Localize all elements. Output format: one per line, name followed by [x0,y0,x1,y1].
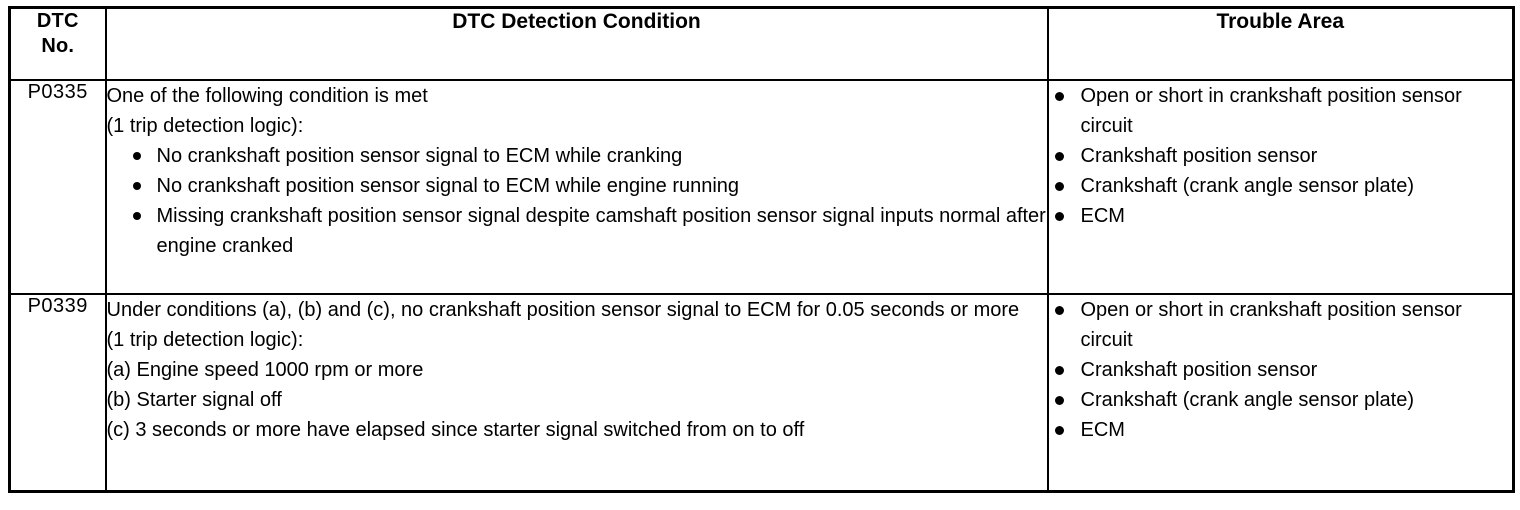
column-header-trouble-area: Trouble Area [1048,8,1514,80]
bullet-dot-icon [1055,366,1064,375]
trouble-area-text: Open or short in crankshaft position sen… [1081,299,1462,351]
bullet-dot-icon [133,152,141,160]
trouble-area-item: ECM [1049,201,1513,231]
cell-trouble-area: Open or short in crankshaft position sen… [1048,80,1514,294]
trouble-area-text: Crankshaft position sensor [1081,359,1318,381]
detection-intro-line: (a) Engine speed 1000 rpm or more [107,355,1047,385]
bullet-dot-icon [1055,426,1064,435]
trouble-area-item: Crankshaft (crank angle sensor plate) [1049,171,1513,201]
cell-dtc-no: P0339 [10,294,106,492]
document-page: DTC No. DTC Detection Condition Trouble … [0,0,1520,510]
detection-bullet-text: No crankshaft position sensor signal to … [157,175,740,197]
detection-intro-line: (1 trip detection logic): [107,325,1047,355]
bullet-dot-icon [1055,152,1064,161]
table-header: DTC No. DTC Detection Condition Trouble … [10,8,1514,80]
detection-bullet-item: Missing crankshaft position sensor signa… [129,201,1047,261]
bullet-dot-icon [1055,306,1064,315]
column-header-dtc-no-line2: No. [11,34,105,59]
trouble-area-list: Open or short in crankshaft position sen… [1049,295,1513,445]
detection-intro-line: (1 trip detection logic): [107,111,1047,141]
cell-trouble-area: Open or short in crankshaft position sen… [1048,294,1514,492]
trouble-area-item: ECM [1049,415,1513,445]
detection-bullet-item: No crankshaft position sensor signal to … [129,171,1047,201]
column-header-detection-condition: DTC Detection Condition [106,8,1048,80]
cell-detection-condition: Under conditions (a), (b) and (c), no cr… [106,294,1048,492]
trouble-area-item: Open or short in crankshaft position sen… [1049,81,1513,141]
detection-intro-line: One of the following condition is met [107,81,1047,111]
table-row: P0335 One of the following condition is … [10,80,1514,294]
bullet-dot-icon [1055,182,1064,191]
trouble-area-text: ECM [1081,419,1125,441]
trouble-area-text: ECM [1081,205,1125,227]
trouble-area-text: Crankshaft position sensor [1081,145,1318,167]
trouble-area-text: Crankshaft (crank angle sensor plate) [1081,389,1415,411]
trouble-area-item: Crankshaft (crank angle sensor plate) [1049,385,1513,415]
trouble-area-item: Crankshaft position sensor [1049,355,1513,385]
detection-bullet-text: No crankshaft position sensor signal to … [157,145,683,167]
dtc-diagnostic-table: DTC No. DTC Detection Condition Trouble … [8,6,1515,493]
detection-intro-line: (c) 3 seconds or more have elapsed since… [107,415,1047,445]
cell-dtc-no: P0335 [10,80,106,294]
bullet-dot-icon [1055,396,1064,405]
bullet-dot-icon [133,212,141,220]
detection-bullet-item: No crankshaft position sensor signal to … [129,141,1047,171]
detection-intro-line: Under conditions (a), (b) and (c), no cr… [107,295,1047,325]
detection-intro-line: (b) Starter signal off [107,385,1047,415]
trouble-area-item: Crankshaft position sensor [1049,141,1513,171]
table-body: P0335 One of the following condition is … [10,80,1514,492]
column-header-dtc-no: DTC No. [10,8,106,80]
trouble-area-text: Open or short in crankshaft position sen… [1081,85,1462,137]
bullet-dot-icon [133,182,141,190]
bullet-dot-icon [1055,212,1064,221]
trouble-area-text: Crankshaft (crank angle sensor plate) [1081,175,1415,197]
table-header-row: DTC No. DTC Detection Condition Trouble … [10,8,1514,80]
detection-bullet-text: Missing crankshaft position sensor signa… [157,205,1046,257]
bullet-dot-icon [1055,92,1064,101]
trouble-area-list: Open or short in crankshaft position sen… [1049,81,1513,231]
column-header-dtc-no-line1: DTC [11,9,105,34]
detection-bullet-list: No crankshaft position sensor signal to … [129,141,1047,261]
trouble-area-item: Open or short in crankshaft position sen… [1049,295,1513,355]
table-row: P0339 Under conditions (a), (b) and (c),… [10,294,1514,492]
cell-detection-condition: One of the following condition is met (1… [106,80,1048,294]
